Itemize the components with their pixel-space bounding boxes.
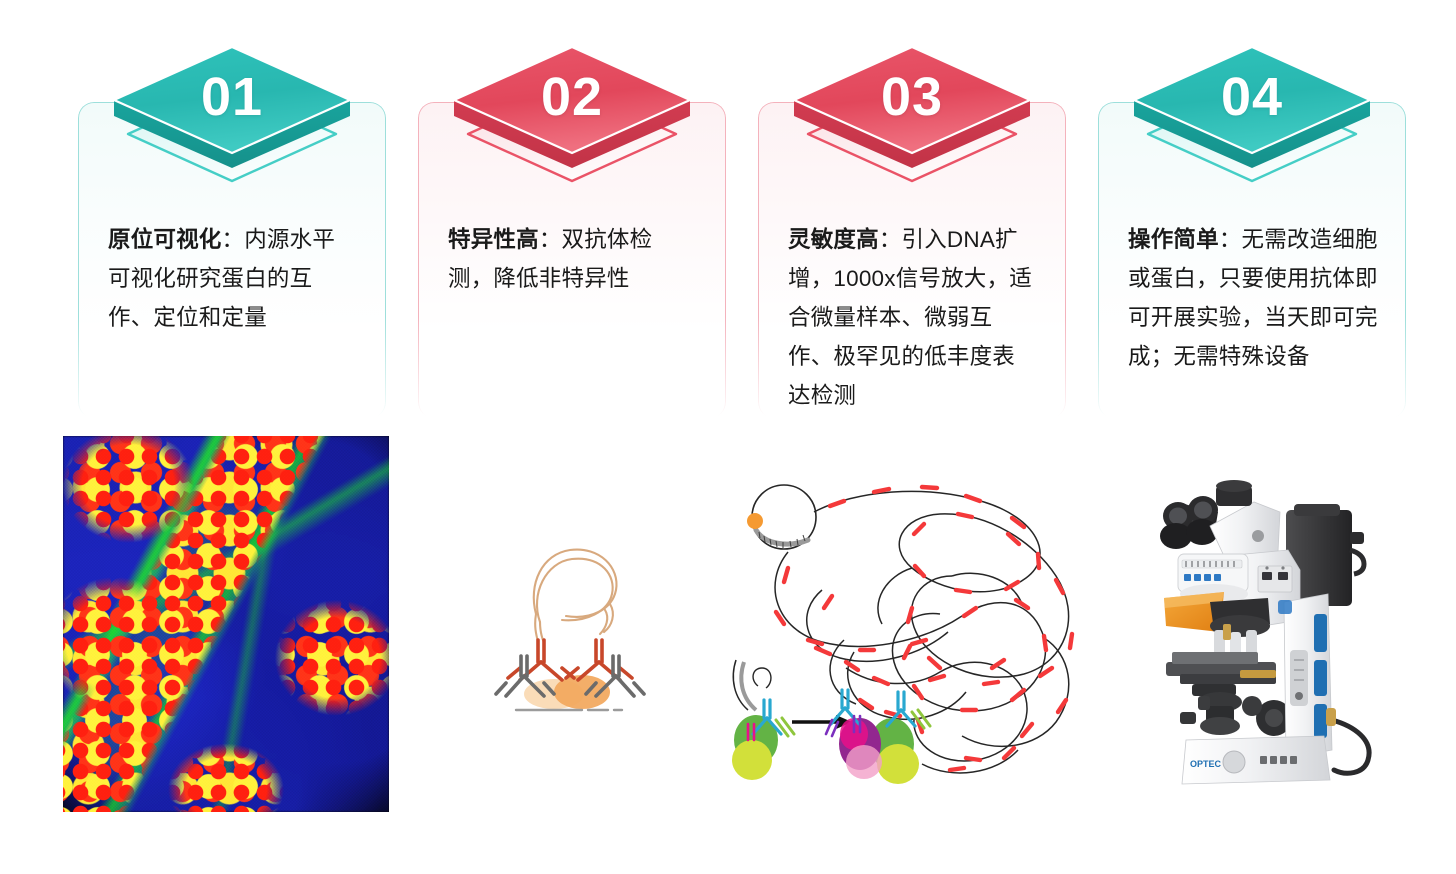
blue-accent-1 bbox=[1314, 614, 1327, 652]
binocular-head bbox=[1160, 480, 1280, 556]
feature-colon-02: ： bbox=[539, 227, 562, 252]
feature-colon-04: ： bbox=[1219, 227, 1242, 252]
step-badge-04[interactable]: 04 bbox=[1118, 22, 1386, 197]
feature-text-03: 灵敏度高：引入DNA扩增，1000x信号放大，适合微量样本、微弱互作、极罕见的低… bbox=[788, 220, 1036, 415]
brightness-dial bbox=[1223, 751, 1245, 773]
secondary-antibody-right bbox=[566, 640, 632, 680]
feature-colon-01: ： bbox=[222, 227, 245, 252]
dna-template-circle bbox=[747, 485, 816, 549]
feature-text-02: 特异性高：双抗体检测，降低非特异性 bbox=[448, 220, 692, 298]
feature-text-01: 原位可视化：内源水平可视化研究蛋白的互作、定位和定量 bbox=[108, 220, 352, 337]
brand-label: OPTEC bbox=[1190, 759, 1222, 769]
fluorescence-micrograph-image bbox=[63, 436, 389, 812]
feature-body-03: 引入DNA扩增，1000x信号放大，适合微量样本、微弱互作、极罕见的低丰度表达检… bbox=[788, 227, 1032, 408]
antibody-pair-diagram bbox=[490, 510, 650, 730]
ligation-template-arc bbox=[733, 660, 756, 710]
step-badge-01[interactable]: 01 bbox=[98, 22, 366, 197]
rca-diagram: tion iv RCA bbox=[726, 472, 1126, 817]
blue-accent-2 bbox=[1314, 660, 1327, 696]
image-grain-layer bbox=[63, 436, 389, 812]
feature-text-04: 操作简单：无需改造细胞或蛋白，只要使用抗体即可开展实验，当天即可完成；无需特殊设… bbox=[1128, 220, 1384, 376]
microscope-image: OPTEC bbox=[1128, 474, 1414, 804]
infographic-page: 01 原位可视化：内源水平可视化研究蛋白的互作、定位和定量 bbox=[0, 0, 1456, 874]
secondary-antibody-left bbox=[508, 640, 574, 680]
rca-diagram-svg bbox=[726, 472, 1126, 817]
fine-focus-knob bbox=[1242, 696, 1262, 716]
mechanical-stage bbox=[1166, 652, 1276, 696]
power-cable bbox=[1332, 720, 1369, 773]
polymerase-dot bbox=[747, 513, 763, 529]
condenser-and-knobs bbox=[1180, 692, 1292, 736]
feature-lead-04: 操作简单 bbox=[1128, 227, 1219, 252]
badge-shape-teal bbox=[1118, 22, 1386, 197]
feature-lead-01: 原位可视化 bbox=[108, 227, 222, 252]
step-badge-03[interactable]: 03 bbox=[778, 22, 1046, 197]
feature-lead-03: 灵敏度高 bbox=[788, 227, 879, 252]
badge-shape-pink bbox=[438, 22, 706, 197]
antibody-complex-right bbox=[826, 690, 930, 784]
pla-schematic-svg bbox=[490, 510, 650, 730]
microscope-svg: OPTEC bbox=[1128, 474, 1414, 804]
badge-shape-pink bbox=[778, 22, 1046, 197]
blue-accent-3 bbox=[1314, 704, 1327, 738]
feature-lead-02: 特异性高 bbox=[448, 227, 539, 252]
media-row: tion iv RCA bbox=[0, 430, 1456, 874]
feature-colon-03: ： bbox=[879, 227, 902, 252]
feature-cards-row: 01 原位可视化：内源水平可视化研究蛋白的互作、定位和定量 bbox=[0, 0, 1456, 430]
badge-shape-teal bbox=[98, 22, 366, 197]
circular-dna-probe bbox=[534, 550, 617, 643]
step-badge-02[interactable]: 02 bbox=[438, 22, 706, 197]
